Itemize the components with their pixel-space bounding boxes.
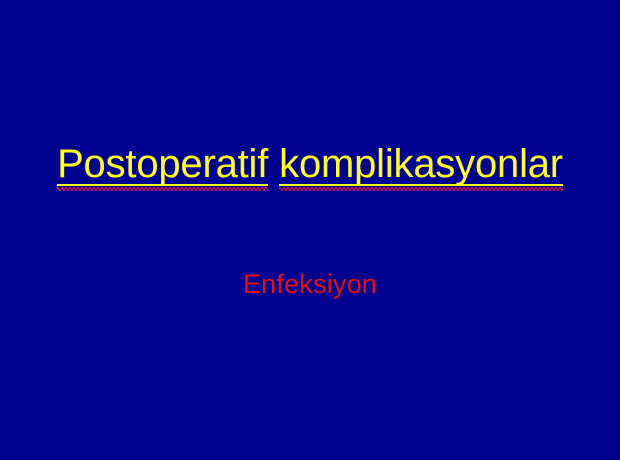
slide-subtitle[interactable]: Enfeksiyon: [0, 271, 620, 298]
title-word-misspelled[interactable]: Postoperatif: [57, 144, 268, 193]
slide-title[interactable]: Postoperatifkomplikasyonlar: [0, 144, 620, 193]
slide-title-text: Postoperatifkomplikasyonlar: [57, 144, 563, 193]
presentation-slide: Postoperatifkomplikasyonlar Enfeksiyon: [0, 0, 620, 460]
title-word-misspelled[interactable]: komplikasyonlar: [279, 144, 563, 193]
slide-subtitle-text: Enfeksiyon: [243, 271, 377, 298]
